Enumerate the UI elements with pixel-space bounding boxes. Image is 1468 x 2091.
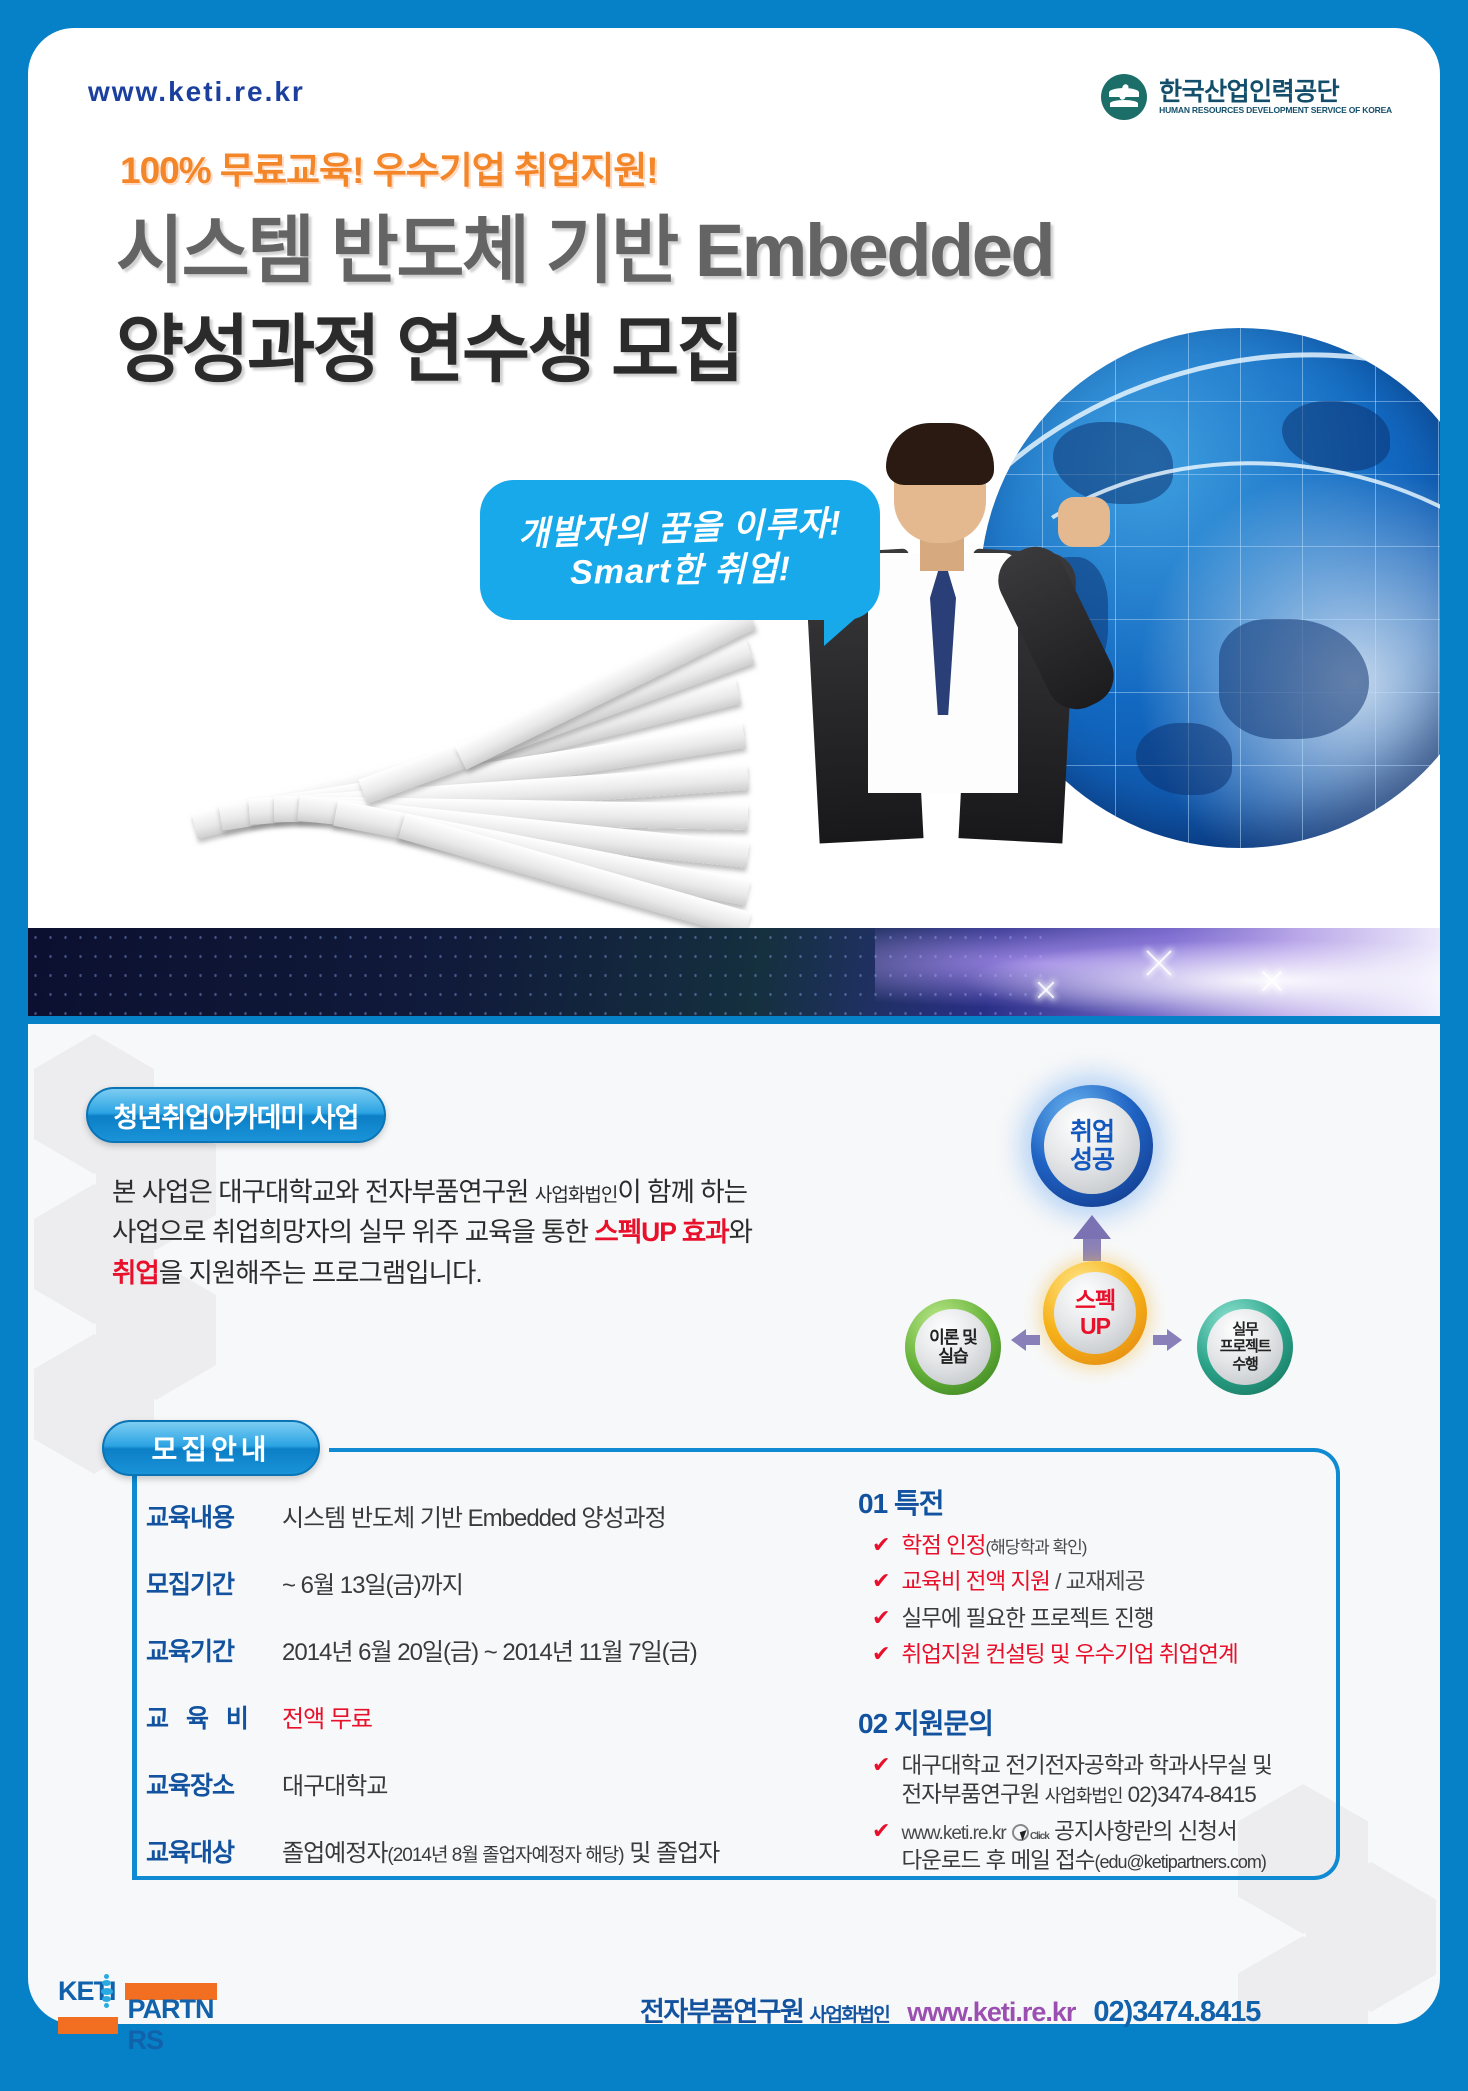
title-line-2: 양성과정 연수생 모집 bbox=[116, 290, 742, 397]
section-number-01: 01 bbox=[858, 1488, 887, 1519]
info-row: 교육장소 대구대학교 bbox=[146, 1766, 786, 1802]
diagram-theory-line2: 실습 bbox=[929, 1347, 977, 1366]
arrow-left-icon-right bbox=[1167, 1329, 1182, 1351]
info-row-target: 교육대상 졸업예정자(2014년 8월 졸업자예정자 해당) 및 졸업자 bbox=[146, 1833, 786, 1869]
hrd-logo-kr: 한국산업인력공단 bbox=[1159, 79, 1392, 105]
diagram-theory-line1: 이론 및 bbox=[929, 1328, 977, 1347]
cursor-click-icon bbox=[1012, 1824, 1029, 1841]
info-value: 졸업예정자(2014년 8월 졸업자예정자 해당) 및 졸업자 bbox=[282, 1833, 719, 1868]
diagram-project-line1: 실무 bbox=[1220, 1321, 1270, 1338]
poster-root: www.keti.re.kr 한국산업인력공단 HUMAN RESOURCES … bbox=[0, 0, 1468, 2091]
inquiry-email: (edu@ketipartners.com) bbox=[1095, 1852, 1266, 1872]
section-title-inquiry: 02 지원문의 bbox=[858, 1702, 1328, 1742]
hrd-korea-logo: 한국산업인력공단 HUMAN RESOURCES DEVELOPMENT SER… bbox=[1101, 74, 1392, 120]
section-number-02: 02 bbox=[858, 1708, 887, 1739]
benefit-note: / 교재제공 bbox=[1050, 1569, 1145, 1594]
inquiry-item-apply: ✔ www.keti.re.kr Click 공지사항란의 신청서 다운로드 후… bbox=[858, 1817, 1328, 1876]
partners-wordmark: PARTN RS bbox=[127, 1994, 238, 2056]
diagram-node-specup: 스펙 UP bbox=[1043, 1261, 1147, 1365]
intro-text-2: 이 함께 하는 bbox=[617, 1177, 747, 1207]
benefits-and-inquiry: 01 특전 ✔ 학점 인정(해당학과 확인) ✔ 교육비 전액 지원 / 교재제… bbox=[858, 1482, 1328, 1882]
check-icon: ✔ bbox=[872, 1531, 890, 1560]
diagram-project-line3: 수행 bbox=[1220, 1356, 1270, 1373]
benefit-main: 학점 인정 bbox=[901, 1533, 985, 1558]
info-label: 교 육 비 bbox=[146, 1699, 282, 1735]
benefit-item: ✔ 학점 인정(해당학과 확인) bbox=[858, 1531, 1328, 1560]
info-label: 교육대상 bbox=[146, 1833, 282, 1869]
process-diagram: 취업 성공 스펙 UP 이론 및 실습 bbox=[905, 1085, 1305, 1395]
hrd-logo-en: HUMAN RESOURCES DEVELOPMENT SERVICE OF K… bbox=[1159, 106, 1392, 115]
check-icon: ✔ bbox=[872, 1751, 890, 1810]
info-value: 전액 무료 bbox=[282, 1699, 372, 1734]
intro-text-small: 사업화법인 bbox=[535, 1185, 617, 1206]
info-value: ~ 6월 13일(금)까지 bbox=[282, 1565, 463, 1600]
footer-org-main: 전자부품연구원 bbox=[640, 1997, 809, 2027]
benefit-item: ✔ 교육비 전액 지원 / 교재제공 bbox=[858, 1567, 1328, 1596]
diagram-node-project: 실무 프로젝트 수행 bbox=[1197, 1299, 1293, 1395]
benefit-text: 실무에 필요한 프로젝트 진행 bbox=[901, 1604, 1153, 1633]
inquiry-line-2a: 전자부품연구원 bbox=[901, 1782, 1044, 1807]
diagram-node-success: 취업 성공 bbox=[1031, 1085, 1153, 1207]
keti-logo-row-2: PARTN RS bbox=[58, 2010, 238, 2040]
benefit-item: ✔ 실무에 필요한 프로젝트 진행 bbox=[858, 1604, 1328, 1633]
benefit-item: ✔ 취업지원 컨설팅 및 우수기업 취업연계 bbox=[858, 1640, 1328, 1669]
target-main-2: 및 졸업자 bbox=[624, 1840, 720, 1867]
diagram-spec-line1: 스펙 bbox=[1075, 1287, 1115, 1313]
inquiry-line-1: 대구대학교 전기전자공학과 학과사무실 및 bbox=[901, 1753, 1271, 1778]
check-icon: ✔ bbox=[872, 1817, 890, 1876]
info-row: 모집기간 ~ 6월 13일(금)까지 bbox=[146, 1565, 786, 1601]
click-label: Click bbox=[1030, 1831, 1049, 1842]
intro-text-5: 을 지원해주는 프로그램입니다. bbox=[159, 1258, 482, 1288]
keti-dots-icon bbox=[100, 1974, 113, 2008]
target-main-1: 졸업예정자 bbox=[282, 1840, 387, 1867]
hrd-emblem-icon bbox=[1101, 74, 1147, 120]
info-row: 교 육 비 전액 무료 bbox=[146, 1699, 786, 1735]
footer-contact: 전자부품연구원 사업화법인 www.keti.re.kr 02)3474.841… bbox=[640, 1990, 1260, 2029]
info-label: 교육장소 bbox=[146, 1766, 282, 1802]
footer-url[interactable]: www.keti.re.kr bbox=[907, 1997, 1075, 2028]
footer-org-small: 사업화법인 bbox=[809, 2005, 889, 2026]
info-value: 시스템 반도체 기반 Embedded 양성과정 bbox=[282, 1498, 666, 1533]
inquiry-apply-text: www.keti.re.kr Click 공지사항란의 신청서 다운로드 후 메… bbox=[901, 1817, 1265, 1876]
speech-bubble: 개발자의 꿈을 이루자! Smart한 취업! bbox=[480, 480, 880, 620]
target-paren: (2014년 8월 졸업자예정자 해당) bbox=[387, 1845, 623, 1866]
inquiry-phone: 02)3474-8415 bbox=[1122, 1782, 1255, 1807]
inquiry-apply-line-2: 다운로드 후 메일 접수 bbox=[901, 1848, 1094, 1873]
check-icon: ✔ bbox=[872, 1604, 890, 1633]
info-value: 대구대학교 bbox=[282, 1766, 387, 1801]
tagline: 100% 무료교육! 우수기업 취업지원! bbox=[120, 140, 658, 194]
intro-highlight-employment: 취업 bbox=[112, 1258, 159, 1288]
arrow-right-icon-left bbox=[1011, 1329, 1026, 1351]
check-icon: ✔ bbox=[872, 1567, 890, 1596]
section-label-benefits: 특전 bbox=[894, 1488, 944, 1519]
tech-divider-band bbox=[28, 928, 1440, 1016]
hero-panel: www.keti.re.kr 한국산업인력공단 HUMAN RESOURCES … bbox=[28, 28, 1440, 928]
footer-tel: 02)3474.8415 bbox=[1093, 1996, 1260, 2029]
intro-text-1: 본 사업은 대구대학교와 전자부품연구원 bbox=[112, 1177, 535, 1207]
inquiry-line-2-small: 사업화법인 bbox=[1045, 1786, 1123, 1806]
diagram-success-line1: 취업 bbox=[1070, 1118, 1114, 1147]
section-label-inquiry: 지원문의 bbox=[894, 1708, 993, 1739]
inquiry-apply-line-1: 공지사항란의 신청서 bbox=[1054, 1819, 1237, 1844]
benefit-main: 교육비 전액 지원 bbox=[901, 1569, 1049, 1594]
badge-youth-academy: 청년취업아카데미 사업 bbox=[86, 1087, 386, 1143]
check-icon: ✔ bbox=[872, 1640, 890, 1669]
inquiry-contact-text: 대구대학교 전기전자공학과 학과사무실 및 전자부품연구원 사업화법인 02)3… bbox=[901, 1751, 1271, 1810]
info-label: 교육기간 bbox=[146, 1632, 282, 1668]
inquiry-website-url[interactable]: www.keti.re.kr bbox=[901, 1823, 1005, 1844]
arrow-up-icon bbox=[1073, 1215, 1111, 1239]
title-line-1: 시스템 반도체 기반 Embedded bbox=[116, 191, 1053, 298]
info-value: 2014년 6월 20일(금) ~ 2014년 11월 7일(금) bbox=[282, 1632, 697, 1667]
speech-bubble-line-1: 개발자의 꿈을 이루자! bbox=[517, 502, 842, 556]
benefit-text: 교육비 전액 지원 / 교재제공 bbox=[901, 1567, 1144, 1596]
info-label: 교육내용 bbox=[146, 1498, 282, 1534]
badge-recruit-info: 모집안내 bbox=[102, 1420, 320, 1476]
diagram-node-theory: 이론 및 실습 bbox=[905, 1299, 1001, 1395]
intro-paragraph: 본 사업은 대구대학교와 전자부품연구원 사업화법인이 함께 하는 사업으로 취… bbox=[112, 1172, 902, 1293]
diagram-success-line2: 성공 bbox=[1070, 1146, 1114, 1175]
info-label: 모집기간 bbox=[146, 1565, 282, 1601]
recruit-details-list: 교육내용 시스템 반도체 기반 Embedded 양성과정 모집기간 ~ 6월 … bbox=[146, 1498, 786, 1900]
section-title-benefits: 01 특전 bbox=[858, 1482, 1328, 1522]
intro-text-3: 사업으로 취업희망자의 실무 위주 교육을 통한 bbox=[112, 1217, 594, 1247]
benefit-note: (해당학과 확인) bbox=[986, 1538, 1087, 1557]
keti-partners-logo: KETI PARTN RS bbox=[58, 1976, 238, 2044]
benefit-text: 취업지원 컨설팅 및 우수기업 취업연계 bbox=[901, 1640, 1237, 1669]
site-url[interactable]: www.keti.re.kr bbox=[88, 76, 305, 108]
inquiry-item-contact: ✔ 대구대학교 전기전자공학과 학과사무실 및 전자부품연구원 사업화법인 02… bbox=[858, 1751, 1328, 1810]
hrd-logo-text: 한국산업인력공단 HUMAN RESOURCES DEVELOPMENT SER… bbox=[1159, 79, 1392, 114]
speech-bubble-line-2: Smart한 취업! bbox=[569, 548, 791, 594]
intro-text-4: 와 bbox=[729, 1217, 752, 1247]
intro-highlight-specup: 스펙UP 효과 bbox=[594, 1217, 728, 1247]
footer-org: 전자부품연구원 사업화법인 bbox=[640, 1990, 889, 2029]
info-row: 교육기간 2014년 6월 20일(금) ~ 2014년 11월 7일(금) bbox=[146, 1632, 786, 1668]
diagram-spec-line2: UP bbox=[1075, 1313, 1115, 1339]
diagram-project-line2: 프로젝트 bbox=[1220, 1338, 1270, 1355]
info-row: 교육내용 시스템 반도체 기반 Embedded 양성과정 bbox=[146, 1498, 786, 1534]
band-glow bbox=[875, 928, 1440, 1016]
benefit-text: 학점 인정(해당학과 확인) bbox=[901, 1531, 1086, 1560]
